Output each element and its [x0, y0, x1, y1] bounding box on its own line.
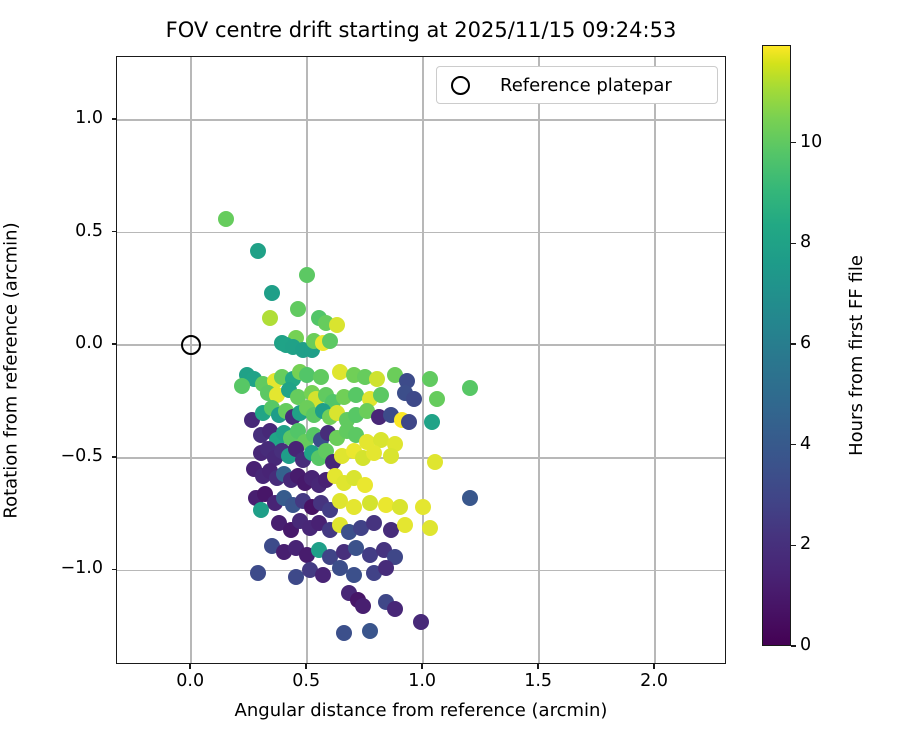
- scatter-point: [406, 391, 422, 407]
- scatter-point: [422, 371, 438, 387]
- scatter-point: [299, 267, 315, 283]
- colorbar-label: Hours from first FF file: [846, 55, 867, 656]
- scatter-point: [322, 333, 338, 349]
- scatter-point: [397, 517, 413, 533]
- x-tick-mark: [537, 664, 539, 669]
- gridline-horizontal: [117, 457, 725, 459]
- scatter-point: [346, 499, 362, 515]
- page-title: FOV centre drift starting at 2025/11/15 …: [0, 18, 842, 42]
- gridline-horizontal: [117, 570, 725, 572]
- colorbar-tick-label: 8: [800, 232, 811, 252]
- x-tick-label: 1.0: [382, 671, 462, 691]
- y-tick-mark: [112, 118, 117, 120]
- scatter-point: [315, 567, 331, 583]
- scatter-point: [264, 285, 280, 301]
- scatter-point: [424, 414, 440, 430]
- scatter-point: [355, 598, 371, 614]
- scatter-point: [329, 317, 345, 333]
- x-tick-label: 1.5: [498, 671, 578, 691]
- y-tick-mark: [112, 456, 117, 458]
- scatter-point: [357, 477, 373, 493]
- scatter-point: [253, 502, 269, 518]
- colorbar-gradient: [763, 46, 790, 645]
- legend-item-label: Reference platepar: [500, 75, 672, 96]
- scatter-point: [262, 310, 278, 326]
- gridline-horizontal: [117, 232, 725, 234]
- y-tick-mark: [112, 343, 117, 345]
- scatter-point: [387, 601, 403, 617]
- legend-open-circle-icon: [451, 76, 470, 95]
- scatter-point: [313, 369, 329, 385]
- scatter-point: [415, 499, 431, 515]
- x-tick-label: 0.5: [266, 671, 346, 691]
- scatter-point: [413, 614, 429, 630]
- gridline-horizontal: [117, 344, 725, 346]
- x-tick-label: 0.0: [150, 671, 230, 691]
- x-tick-mark: [189, 664, 191, 669]
- scatter-point: [218, 211, 234, 227]
- scatter-point: [373, 387, 389, 403]
- scatter-point: [234, 378, 250, 394]
- gridline-vertical: [422, 57, 424, 663]
- scatter-point: [366, 515, 382, 531]
- scatter-point: [462, 380, 478, 396]
- figure-canvas: FOV centre drift starting at 2025/11/15 …: [0, 0, 900, 750]
- scatter-point: [250, 565, 266, 581]
- scatter-point: [378, 560, 394, 576]
- scatter-point: [429, 391, 445, 407]
- colorbar-tick-mark: [791, 545, 796, 547]
- colorbar-tick-mark: [791, 243, 796, 245]
- scatter-point: [422, 520, 438, 536]
- reference-platepar-marker: [181, 335, 201, 355]
- colorbar-tick-mark: [791, 142, 796, 144]
- scatter-point: [427, 454, 443, 470]
- scatter-point: [362, 623, 378, 639]
- scatter-point: [362, 495, 378, 511]
- gridline-vertical: [190, 57, 192, 663]
- colorbar-tick-label: 4: [800, 434, 811, 454]
- colorbar-tick-label: 10: [800, 132, 822, 152]
- gridline-vertical: [538, 57, 540, 663]
- plot-area: [116, 56, 726, 664]
- x-tick-label: 2.0: [614, 671, 694, 691]
- scatter-point: [401, 414, 417, 430]
- y-tick-mark: [112, 231, 117, 233]
- x-tick-mark: [421, 664, 423, 669]
- y-axis-label: Rotation from reference (arcmin): [1, 67, 22, 675]
- x-axis-label: Angular distance from reference (arcmin): [116, 700, 726, 721]
- scatter-point: [366, 445, 382, 461]
- scatter-point: [392, 499, 408, 515]
- colorbar-tick-label: 0: [800, 635, 811, 655]
- scatter-point: [369, 371, 385, 387]
- colorbar-tick-mark: [791, 444, 796, 446]
- gridline-horizontal: [117, 119, 725, 121]
- colorbar-tick-mark: [791, 645, 796, 647]
- scatter-point: [290, 301, 306, 317]
- x-tick-mark: [653, 664, 655, 669]
- colorbar-tick-mark: [791, 343, 796, 345]
- x-tick-mark: [305, 664, 307, 669]
- colorbar-tick-label: 2: [800, 534, 811, 554]
- y-tick-mark: [112, 569, 117, 571]
- scatter-point: [383, 448, 399, 464]
- colorbar: [762, 45, 791, 646]
- scatter-point: [336, 625, 352, 641]
- scatter-point: [250, 243, 266, 259]
- colorbar-tick-label: 6: [800, 333, 811, 353]
- scatter-point: [462, 490, 478, 506]
- gridline-vertical: [654, 57, 656, 663]
- legend: Reference platepar: [436, 66, 718, 104]
- scatter-point: [346, 567, 362, 583]
